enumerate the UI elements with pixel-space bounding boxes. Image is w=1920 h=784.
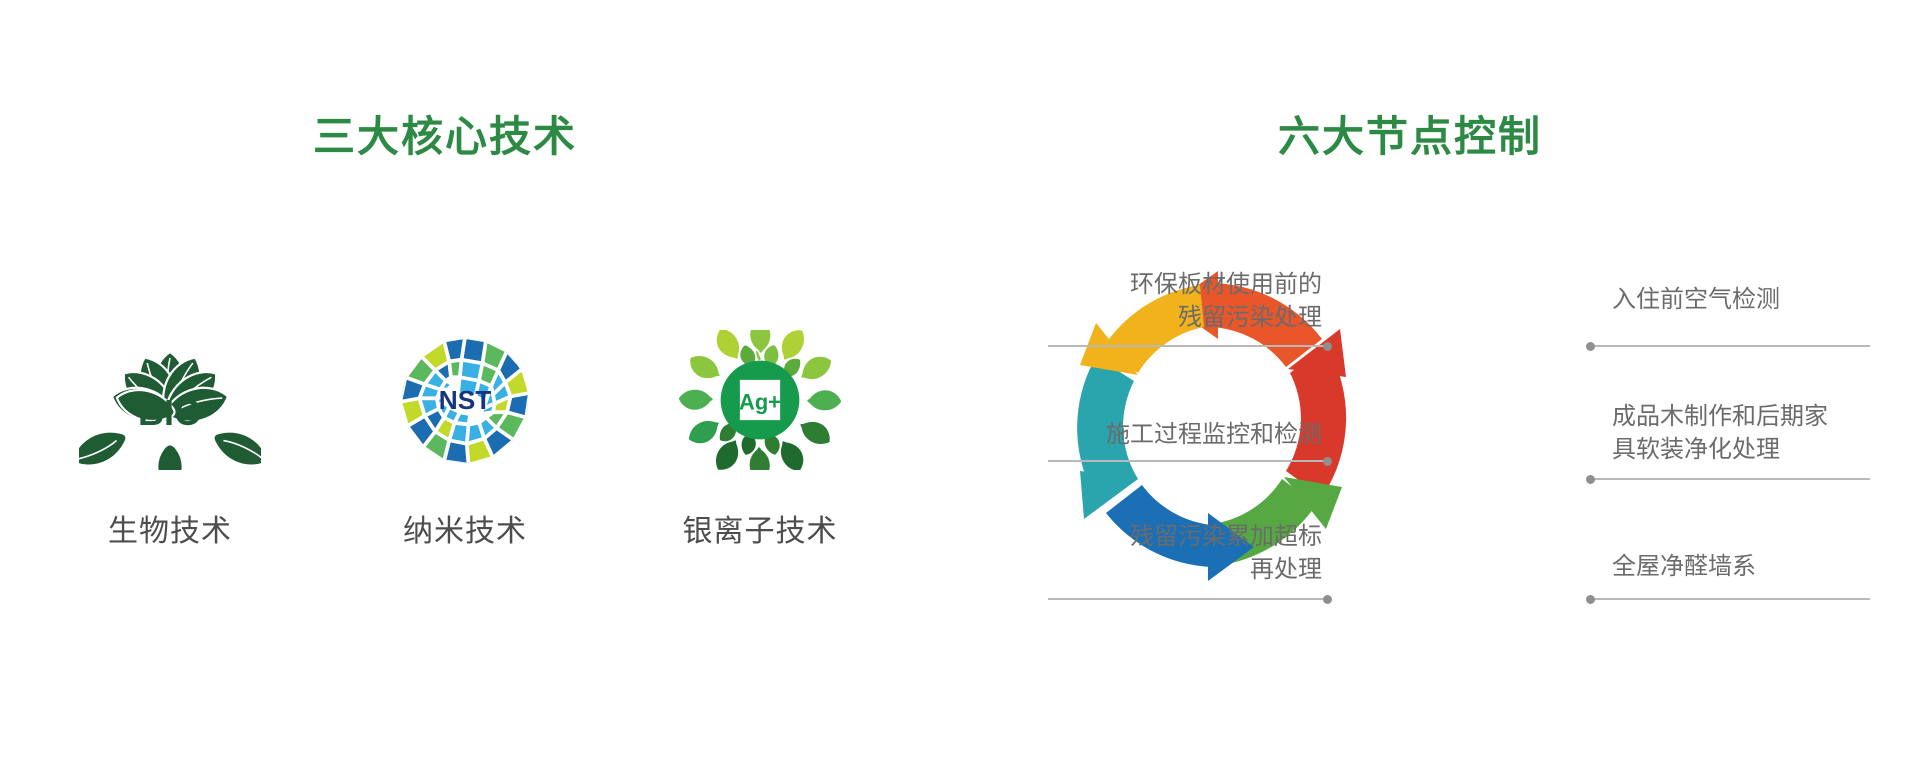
page-title-right: 六大节点控制	[1278, 103, 1542, 164]
leader-line-2	[1048, 460, 1328, 462]
bio-logo-text: BIO	[138, 392, 202, 433]
leader-dot-3	[1323, 595, 1332, 604]
leader-dot-6	[1586, 595, 1595, 604]
silver-ion-logo-text: Ag+	[739, 390, 781, 415]
cycle-node-label-1: 环保板材使用前的 残留污染处理	[1022, 268, 1322, 334]
bio-leaf-wreath-logo: BIO	[79, 330, 261, 470]
nst-mosaic-sphere-logo: NST	[374, 330, 556, 470]
infographic-page: 三大核心技术	[0, 0, 1920, 784]
cycle-node-label-2: 施工过程监控和检测	[1002, 418, 1322, 451]
leader-line-6	[1590, 598, 1870, 600]
leader-line-4	[1590, 345, 1870, 347]
cycle-node-label-3: 残留污染累加超标 再处理	[1022, 520, 1322, 586]
cycle-node-label-4: 入住前空气检测	[1612, 283, 1920, 316]
tech-label-silver-ion: 银离子技术	[683, 506, 838, 550]
leader-dot-5	[1586, 475, 1595, 484]
leader-dot-2	[1323, 457, 1332, 466]
page-title-left: 三大核心技术	[313, 103, 577, 164]
leader-line-3	[1048, 598, 1328, 600]
cycle-node-label-6: 全屋净醛墙系	[1612, 550, 1920, 583]
leader-dot-4	[1586, 342, 1595, 351]
leader-line-5	[1590, 478, 1870, 480]
core-technologies-row: BIO 生物技术	[30, 330, 900, 600]
tech-item-nanotechnology[interactable]: NST 纳米技术	[325, 330, 605, 550]
leader-dot-1	[1323, 342, 1332, 351]
tech-item-biotechnology[interactable]: BIO 生物技术	[30, 330, 310, 550]
nst-logo-text: NST	[439, 385, 492, 415]
silver-ion-leaf-circle-logo: Ag+	[669, 330, 851, 470]
leader-line-1	[1048, 345, 1328, 347]
tech-item-silver-ion[interactable]: Ag+ 银离子技术	[620, 330, 900, 550]
cycle-node-label-5: 成品木制作和后期家 具软装净化处理	[1612, 400, 1920, 466]
tech-label-biotechnology: 生物技术	[108, 506, 232, 550]
tech-label-nanotechnology: 纳米技术	[403, 506, 527, 550]
